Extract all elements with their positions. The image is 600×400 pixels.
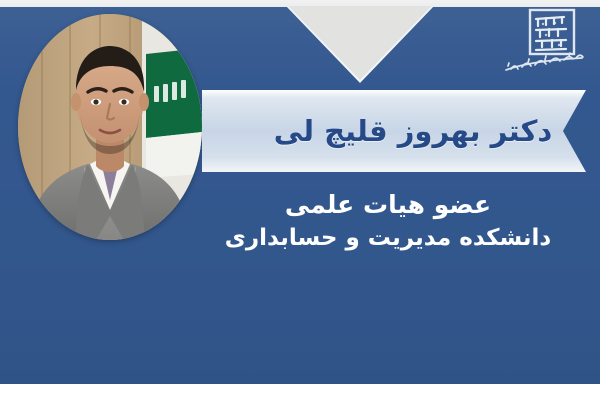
- faculty-profile-card: دکتر بهروز قلیچ لی عضو هیات علمی دانشکده…: [0, 0, 600, 400]
- name-ribbon: دکتر بهروز قلیچ لی: [202, 90, 586, 172]
- portrait-illustration: [18, 14, 202, 240]
- faculty-name: دکتر بهروز قلیچ لی: [236, 114, 553, 148]
- university-logo-icon: [502, 6, 588, 80]
- shahid-beheshti-university-logo: [502, 6, 588, 80]
- portrait-photo: [18, 14, 202, 240]
- faculty-department: دانشکده مدیریت و حسابداری: [190, 222, 586, 255]
- subtitle-block: عضو هیات علمی دانشکده مدیریت و حسابداری: [190, 188, 586, 255]
- position-title: عضو هیات علمی: [190, 188, 586, 222]
